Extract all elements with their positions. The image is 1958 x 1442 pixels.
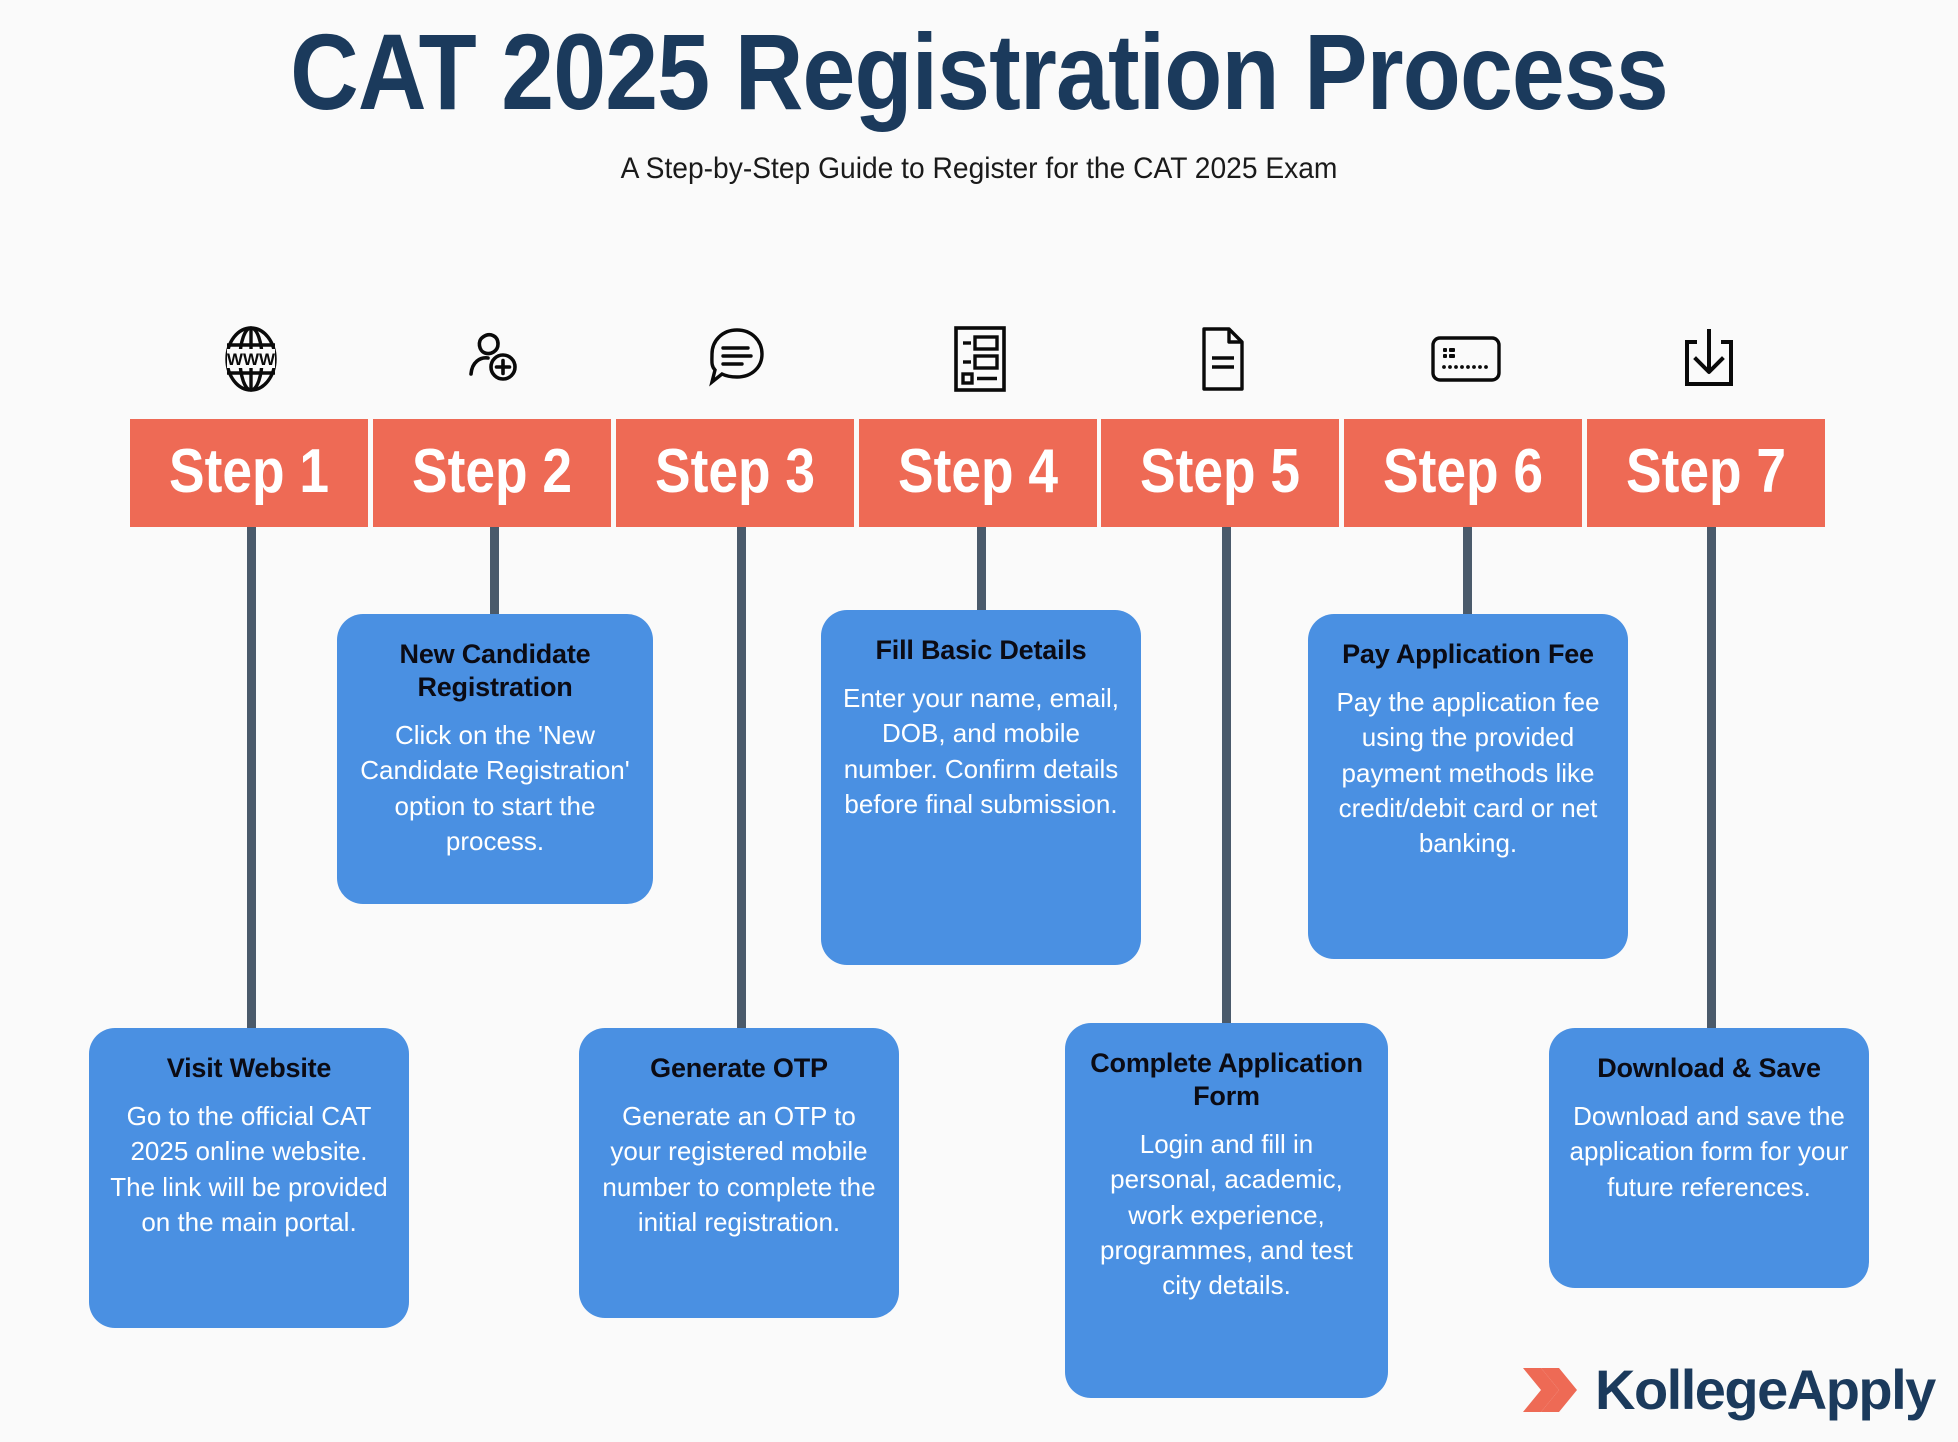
form-checklist-icon: [859, 318, 1102, 400]
page-subtitle: A Step-by-Step Guide to Register for the…: [59, 152, 1900, 186]
connector-step-2: [490, 527, 499, 614]
card-step-1[interactable]: Visit Website Go to the official CAT 202…: [89, 1028, 409, 1328]
card-step-5[interactable]: Complete Application Form Login and fill…: [1065, 1023, 1388, 1398]
connector-step-5: [1222, 527, 1231, 1037]
step-segment-6[interactable]: Step 6: [1344, 419, 1582, 527]
card-step-7[interactable]: Download & Save Download and save the ap…: [1549, 1028, 1869, 1288]
chat-bubble-icon: [616, 318, 859, 400]
card-body-5: Login and fill in personal, academic, wo…: [1085, 1127, 1368, 1304]
card-title-1: Visit Website: [109, 1052, 389, 1085]
card-body-1: Go to the official CAT 2025 online websi…: [109, 1099, 389, 1240]
download-icon: [1587, 318, 1830, 400]
step-segment-5[interactable]: Step 5: [1101, 419, 1339, 527]
card-step-6[interactable]: Pay Application Fee Pay the application …: [1308, 614, 1628, 959]
card-title-5: Complete Application Form: [1085, 1047, 1368, 1113]
card-step-2[interactable]: New Candidate Registration Click on the …: [337, 614, 653, 904]
card-body-7: Download and save the application form f…: [1569, 1099, 1849, 1205]
infographic-canvas: CAT 2025 Registration Process A Step-by-…: [0, 0, 1958, 1442]
card-body-6: Pay the application fee using the provid…: [1328, 685, 1608, 862]
connector-step-3: [737, 527, 746, 1032]
card-step-3[interactable]: Generate OTP Generate an OTP to your reg…: [579, 1028, 899, 1318]
step-label-5: Step 5: [1140, 441, 1300, 503]
connector-step-1: [247, 527, 256, 1032]
card-title-6: Pay Application Fee: [1328, 638, 1608, 671]
card-body-4: Enter your name, email, DOB, and mobile …: [841, 681, 1121, 822]
step-bar: Step 1 Step 2 Step 3 Step 4 Step 5 Step …: [130, 419, 1830, 527]
step-segment-1[interactable]: Step 1: [130, 419, 368, 527]
brand-logo: KollegeApply: [1519, 1352, 1935, 1428]
connector-step-4: [977, 527, 986, 610]
card-title-4: Fill Basic Details: [841, 634, 1121, 667]
svg-text:WWW: WWW: [227, 350, 276, 369]
card-title-3: Generate OTP: [599, 1052, 879, 1085]
globe-www-icon: WWW: [130, 318, 373, 400]
card-title-2: New Candidate Registration: [357, 638, 633, 704]
step-label-4: Step 4: [898, 441, 1058, 503]
double-chevron-icon: [1519, 1362, 1581, 1418]
page-title: CAT 2025 Registration Process: [117, 8, 1840, 135]
step-label-6: Step 6: [1383, 441, 1543, 503]
document-icon: [1101, 318, 1344, 400]
card-body-2: Click on the 'New Candidate Registration…: [357, 718, 633, 859]
brand-logo-text: KollegeApply: [1595, 1362, 1935, 1418]
step-label-2: Step 2: [412, 441, 572, 503]
connector-step-7: [1707, 527, 1716, 1032]
step-label-7: Step 7: [1626, 441, 1786, 503]
step-segment-3[interactable]: Step 3: [616, 419, 854, 527]
step-label-1: Step 1: [169, 441, 329, 503]
step-label-3: Step 3: [655, 441, 815, 503]
add-person-icon: [373, 318, 616, 400]
card-title-7: Download & Save: [1569, 1052, 1849, 1085]
step-segment-2[interactable]: Step 2: [373, 419, 611, 527]
credit-card-icon: [1344, 318, 1587, 400]
card-body-3: Generate an OTP to your registered mobil…: [599, 1099, 879, 1240]
card-step-4[interactable]: Fill Basic Details Enter your name, emai…: [821, 610, 1141, 965]
step-segment-4[interactable]: Step 4: [859, 419, 1097, 527]
icon-row: WWW: [130, 318, 1830, 400]
connector-step-6: [1463, 527, 1472, 614]
step-segment-7[interactable]: Step 7: [1587, 419, 1825, 527]
